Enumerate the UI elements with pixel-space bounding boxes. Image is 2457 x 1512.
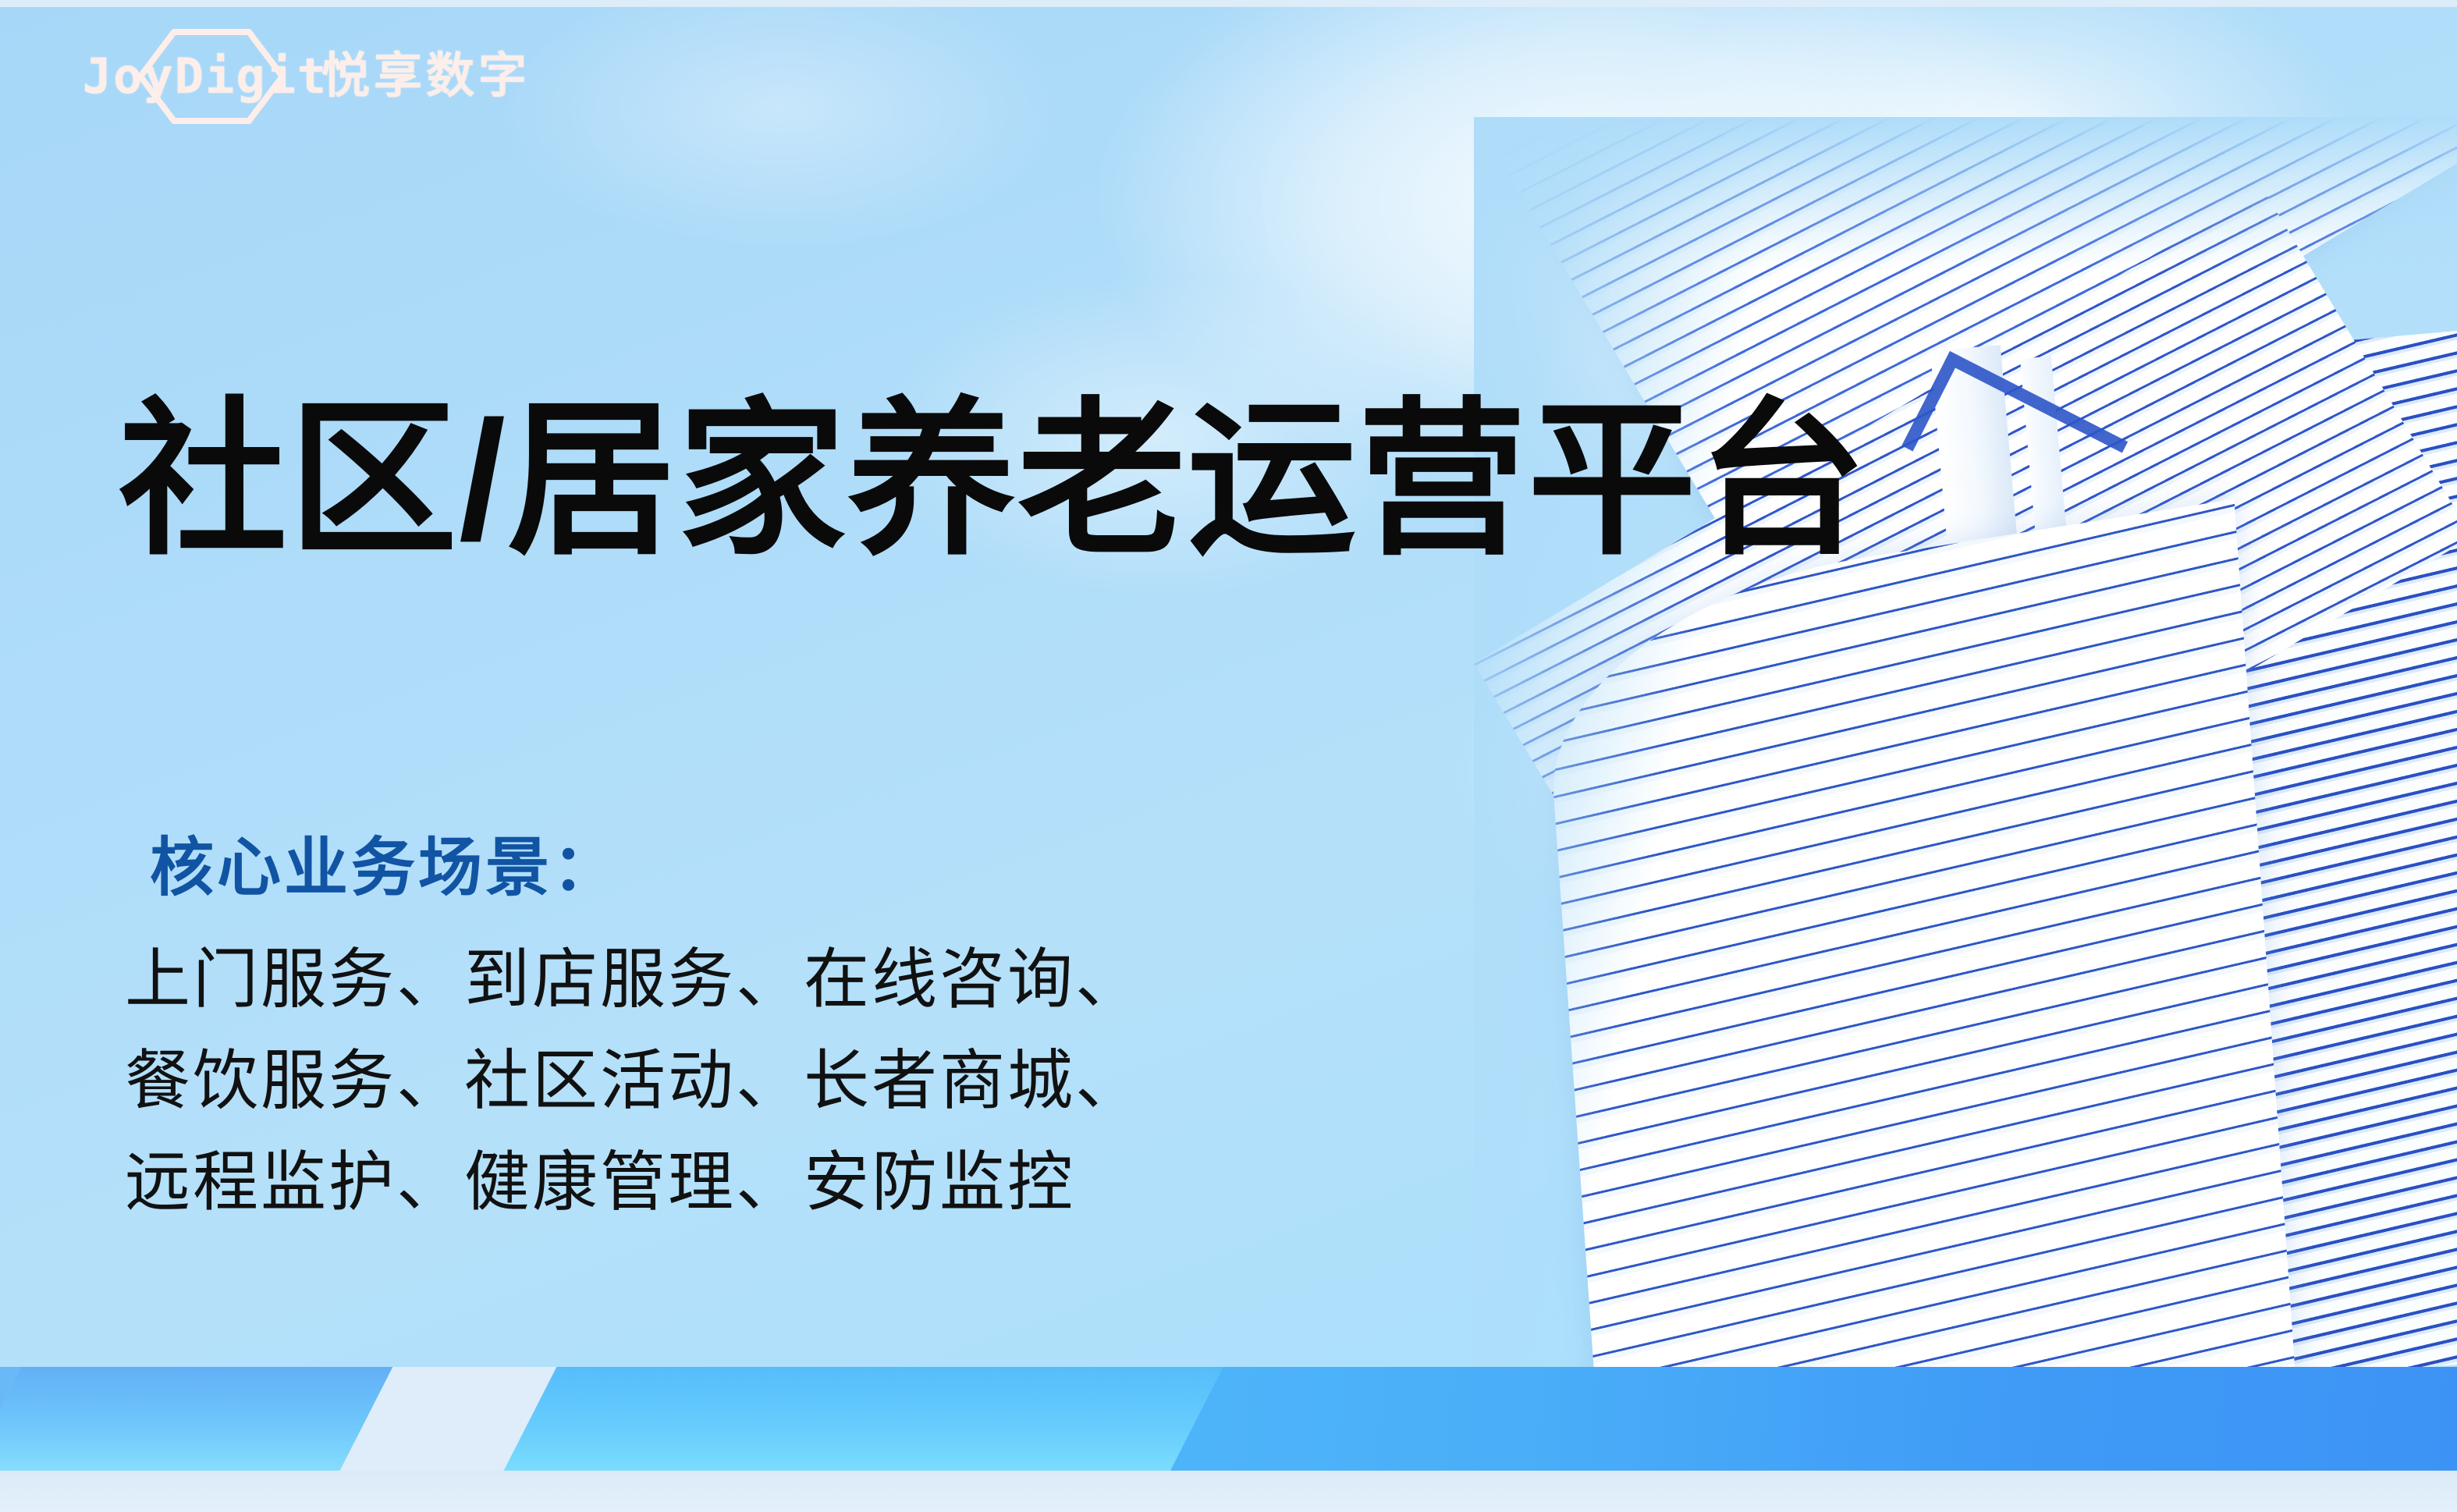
scenario-list: 上门服务、到店服务、在线咨询、 餐饮服务、社区活动、长者商城、 远程监护、健康管… (125, 928, 1143, 1233)
logo-chinese-text: 悦享数字 (321, 52, 531, 101)
scenario-line: 餐饮服务、社区活动、长者商城、 (125, 1030, 1143, 1131)
section-label: 核心业务场景： (150, 833, 620, 903)
scenario-line: 远程监护、健康管理、安防监控 (125, 1131, 1143, 1233)
building-top-fade (1474, 117, 2457, 1397)
page-title: 社区/居家养老运营平台 (119, 388, 1868, 573)
building-photo (1474, 117, 2457, 1397)
scenario-line: 上门服务、到店服务、在线咨询、 (125, 928, 1143, 1030)
bottom-ribbon (0, 1367, 2457, 1512)
brand-logo[interactable]: JoyDigit 悦享数字 (109, 30, 531, 123)
logo-mark: JoyDigit (109, 30, 301, 122)
ribbon-parallelogram-mid (468, 1367, 1223, 1471)
logo-latin-text: JoyDigit (83, 52, 328, 101)
slide-root: JoyDigit 悦享数字 社区/居家养老运营平台 核心业务场景： 上门服务、到… (0, 0, 2457, 1512)
ribbon-base-strip (0, 1471, 2457, 1512)
top-edge-strip (0, 0, 2457, 7)
